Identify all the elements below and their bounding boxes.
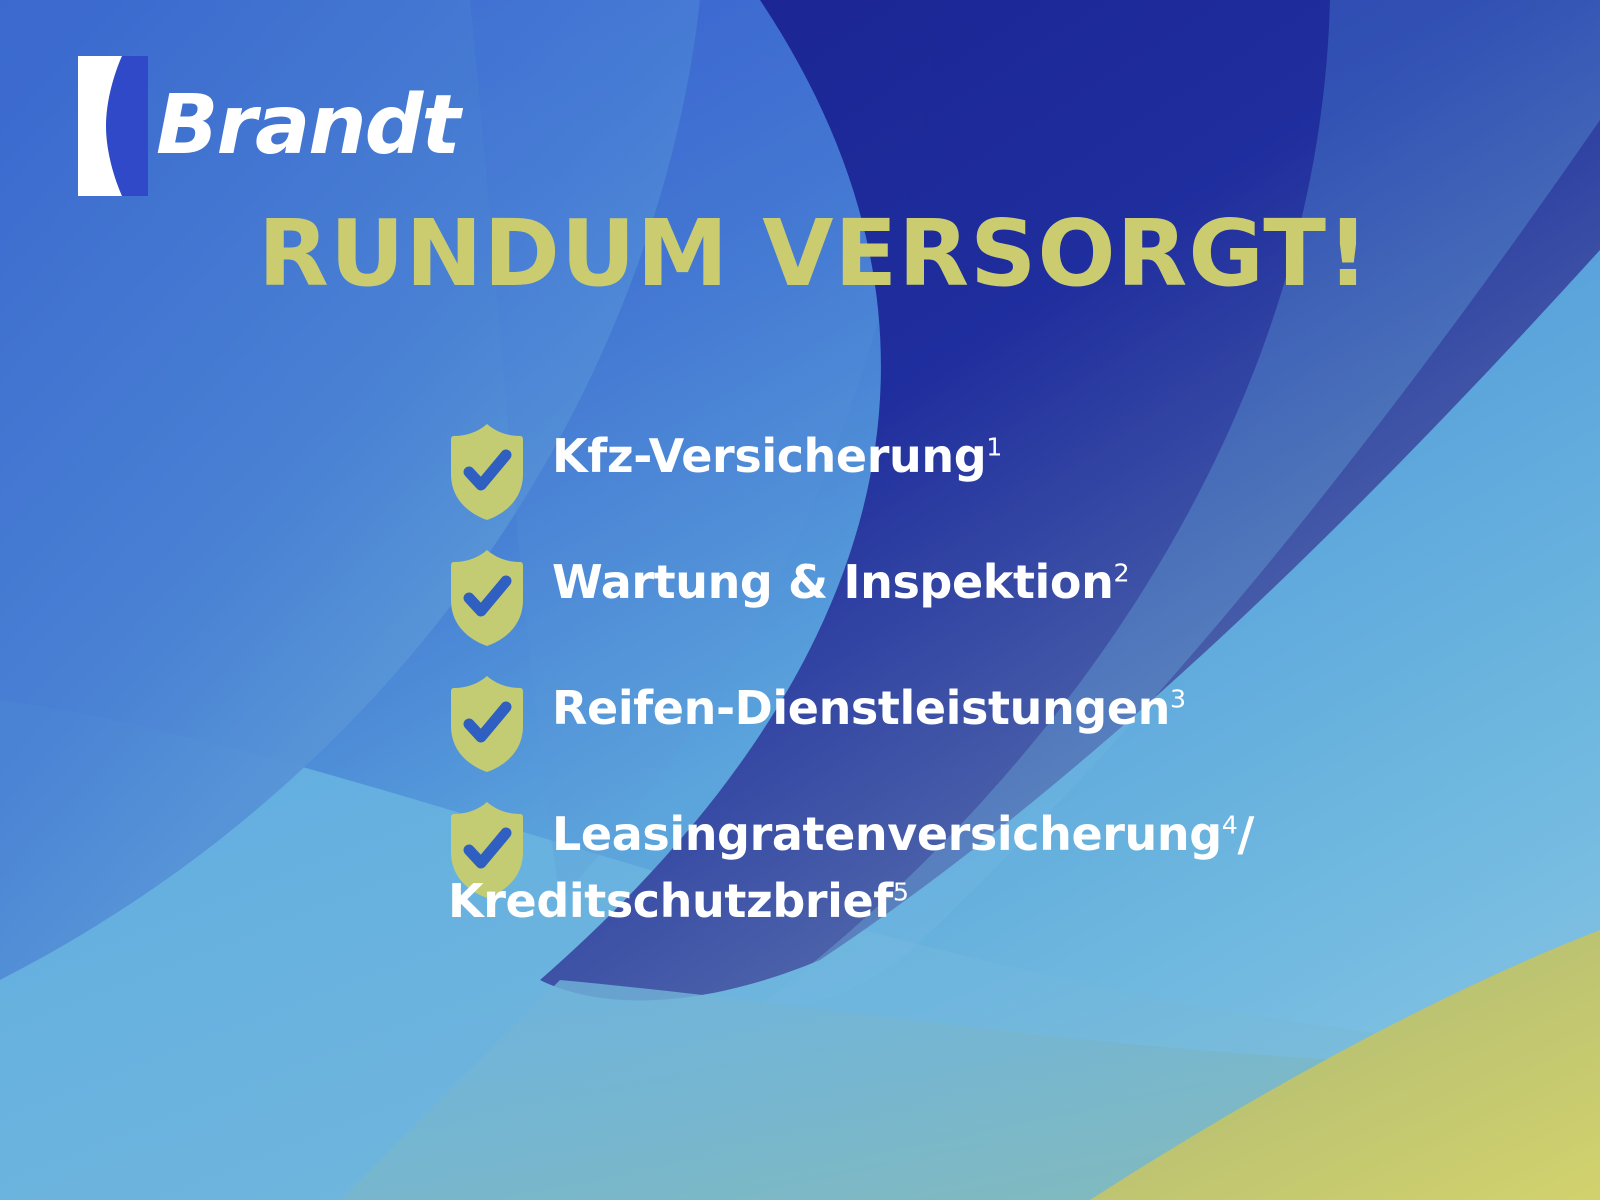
benefit-text: Reifen-Dienstleistungen <box>552 681 1170 735</box>
list-item: Reifen-Dienstleistungen3 <box>448 670 1528 774</box>
benefit-separator: / <box>1237 807 1253 861</box>
benefit-footnote: 2 <box>1113 559 1129 588</box>
benefit-text-2: Kreditschutzbrief <box>448 874 893 928</box>
list-item: Wartung & Inspektion2 <box>448 544 1528 648</box>
page-title: RUNDUM VERSORGT! <box>258 206 1370 303</box>
shield-check-icon <box>448 674 526 774</box>
benefit-text: Leasingratenversicherung <box>552 807 1222 861</box>
benefits-list: Kfz-Versicherung1 Wartung & Inspektion2 … <box>448 418 1528 931</box>
brand-logo: Brandt <box>72 56 459 196</box>
benefit-label: Leasingratenversicherung4/ Kreditschutzb… <box>448 796 1254 931</box>
benefit-footnote-2: 5 <box>893 877 909 906</box>
brandt-bracket-mark <box>72 56 148 196</box>
benefit-text-line2: Kreditschutzbrief5 <box>448 871 1254 932</box>
benefit-text: Kfz-Versicherung <box>552 429 986 483</box>
shield-check-icon <box>448 548 526 648</box>
list-item: Leasingratenversicherung4/ Kreditschutzb… <box>448 796 1528 931</box>
benefit-footnote: 1 <box>986 433 1002 462</box>
list-item: Kfz-Versicherung1 <box>448 418 1528 522</box>
benefit-text: Wartung & Inspektion <box>552 555 1113 609</box>
benefit-label: Kfz-Versicherung1 <box>552 418 1002 487</box>
brand-wordmark: Brandt <box>156 85 459 167</box>
shield-check-icon <box>448 422 526 522</box>
benefit-footnote: 3 <box>1170 685 1186 714</box>
benefit-label: Wartung & Inspektion2 <box>552 544 1129 613</box>
benefit-footnote: 4 <box>1222 811 1238 840</box>
poster-canvas: Brandt RUNDUM VERSORGT! Kfz-Versicherung… <box>0 0 1600 1200</box>
benefit-label: Reifen-Dienstleistungen3 <box>552 670 1186 739</box>
